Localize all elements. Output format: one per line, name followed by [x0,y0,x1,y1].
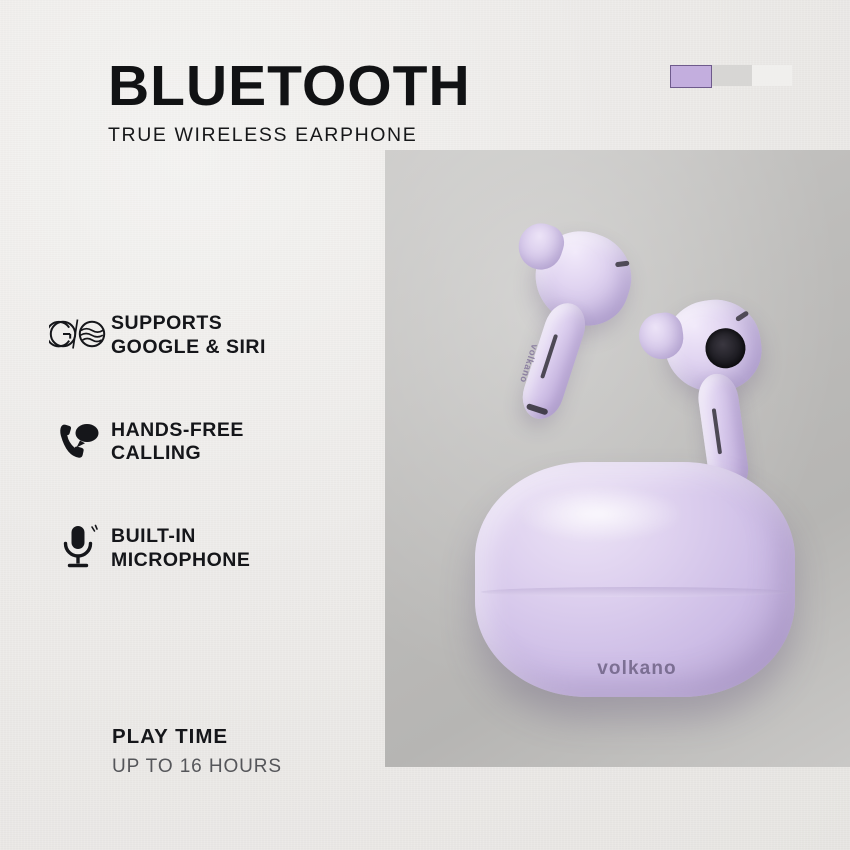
feature-list: SUPPORTS GOOGLE & SIRI HANDS-FREE CALLIN… [45,310,365,630]
color-swatch-grey[interactable] [712,65,752,86]
color-swatch-group[interactable] [670,65,792,86]
page-subtitle: TRUE WIRELESS EARPHONE [108,124,471,147]
feature-item-voice-assistant: SUPPORTS GOOGLE & SIRI [45,310,365,360]
color-swatch-white[interactable] [752,65,792,86]
feature-line-1: HANDS-FREE [111,419,244,443]
feature-item-microphone: BUILT-IN MICROPHONE [45,523,365,573]
earbud-left-contact [526,403,549,416]
poster-frame: BLUETOOTH TRUE WIRELESS EARPHONE [0,0,850,850]
earbud-right-nozzle [703,326,748,371]
earbud-left-sensor-icon [615,261,630,268]
playtime-block: PLAY TIME UP TO 16 HOURS [112,725,282,778]
title-block: BLUETOOTH TRUE WIRELESS EARPHONE [108,58,471,147]
feature-label-hands-free: HANDS-FREE CALLING [111,417,244,467]
feature-line-1: BUILT-IN [111,525,250,549]
earbud-right-head [659,294,767,398]
feature-line-1: SUPPORTS [111,312,266,336]
earbud-right [659,294,767,398]
feature-label-microphone: BUILT-IN MICROPHONE [111,523,250,573]
phone-speech-bubble-icon [45,417,111,465]
earbud-left-touch-strip [540,334,558,379]
google-siri-icon [45,310,111,358]
charging-case-lid-seam [481,587,789,597]
playtime-title: PLAY TIME [112,725,282,749]
page-title: BLUETOOTH [108,58,471,115]
earbud-right-touch-strip [712,408,722,454]
charging-case-highlight [515,485,685,543]
feature-line-2: GOOGLE & SIRI [111,336,266,360]
feature-item-hands-free: HANDS-FREE CALLING [45,417,365,467]
earbud-right-sensor-icon [735,310,749,322]
playtime-value: UP TO 16 HOURS [112,756,282,778]
feature-line-2: CALLING [111,442,244,466]
color-swatch-lilac[interactable] [670,65,712,88]
charging-case-brand-label: volkano [567,658,707,680]
feature-line-2: MICROPHONE [111,549,250,573]
feature-label-voice-assistant: SUPPORTS GOOGLE & SIRI [111,310,266,360]
product-image-panel: volkano volkano [385,150,850,767]
microphone-icon [45,523,111,571]
